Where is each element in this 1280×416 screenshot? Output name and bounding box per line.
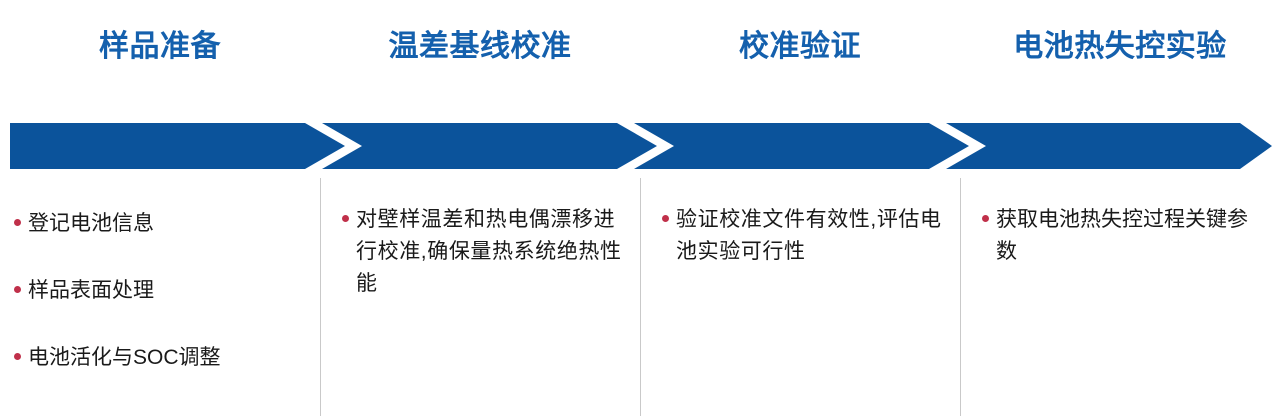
bullet-dot-icon — [982, 215, 989, 222]
bullet-text: 样品表面处理 — [28, 275, 154, 307]
arrow-segment-2 — [322, 123, 657, 169]
bullet-text: 电池活化与SOC调整 — [28, 342, 221, 374]
bullet-dot-icon — [14, 219, 21, 226]
bullet-text: 对壁样温差和热电偶漂移进行校准,确保量热系统绝热性能 — [356, 204, 626, 300]
stage-heading-cell-2: 温差基线校准 — [320, 0, 640, 108]
stage-column-4: 获取电池热失控过程关键参数 — [960, 176, 1280, 414]
stage-headings-row: 样品准备 温差基线校准 校准验证 电池热失控实验 — [0, 0, 1280, 108]
bullet-dot-icon — [342, 215, 349, 222]
stage-heading-4: 电池热失控实验 — [1013, 30, 1227, 63]
list-item: 验证校准文件有效性,评估电池实验可行性 — [662, 204, 946, 268]
list-item: 登记电池信息 — [14, 208, 306, 240]
arrow-segment-4 — [946, 123, 1272, 169]
list-item: 获取电池热失控过程关键参数 — [982, 204, 1266, 268]
stage-heading-cell-1: 样品准备 — [0, 0, 320, 108]
stage-heading-2: 温差基线校准 — [389, 30, 572, 63]
list-item: 样品表面处理 — [14, 275, 306, 307]
stage-detail-columns: 登记电池信息 样品表面处理 电池活化与SOC调整 对壁样温差和热电偶漂移进行校准… — [0, 176, 1280, 414]
stage-column-2: 对壁样温差和热电偶漂移进行校准,确保量热系统绝热性能 — [320, 176, 640, 414]
arrow-band-svg — [0, 118, 1280, 174]
stage-column-1: 登记电池信息 样品表面处理 电池活化与SOC调整 — [0, 176, 320, 414]
stage-heading-cell-4: 电池热失控实验 — [960, 0, 1280, 108]
bullet-text: 获取电池热失控过程关键参数 — [996, 204, 1266, 268]
stage-heading-1: 样品准备 — [99, 30, 221, 63]
bullet-text: 登记电池信息 — [28, 208, 154, 240]
bullet-dot-icon — [14, 353, 21, 360]
stage-heading-3: 校准验证 — [739, 30, 861, 63]
bullet-dot-icon — [662, 215, 669, 222]
stage-column-3: 验证校准文件有效性,评估电池实验可行性 — [640, 176, 960, 414]
list-item: 电池活化与SOC调整 — [14, 342, 306, 374]
stage-heading-cell-3: 校准验证 — [640, 0, 960, 108]
arrow-segment-1 — [10, 123, 345, 169]
arrow-segment-3 — [634, 123, 969, 169]
list-item: 对壁样温差和热电偶漂移进行校准,确保量热系统绝热性能 — [342, 204, 626, 300]
process-arrow-band — [0, 118, 1280, 174]
bullet-text: 验证校准文件有效性,评估电池实验可行性 — [676, 204, 946, 268]
process-flow-diagram: 样品准备 温差基线校准 校准验证 电池热失控实验 登记电池信息 — [0, 0, 1280, 414]
bullet-dot-icon — [14, 286, 21, 293]
